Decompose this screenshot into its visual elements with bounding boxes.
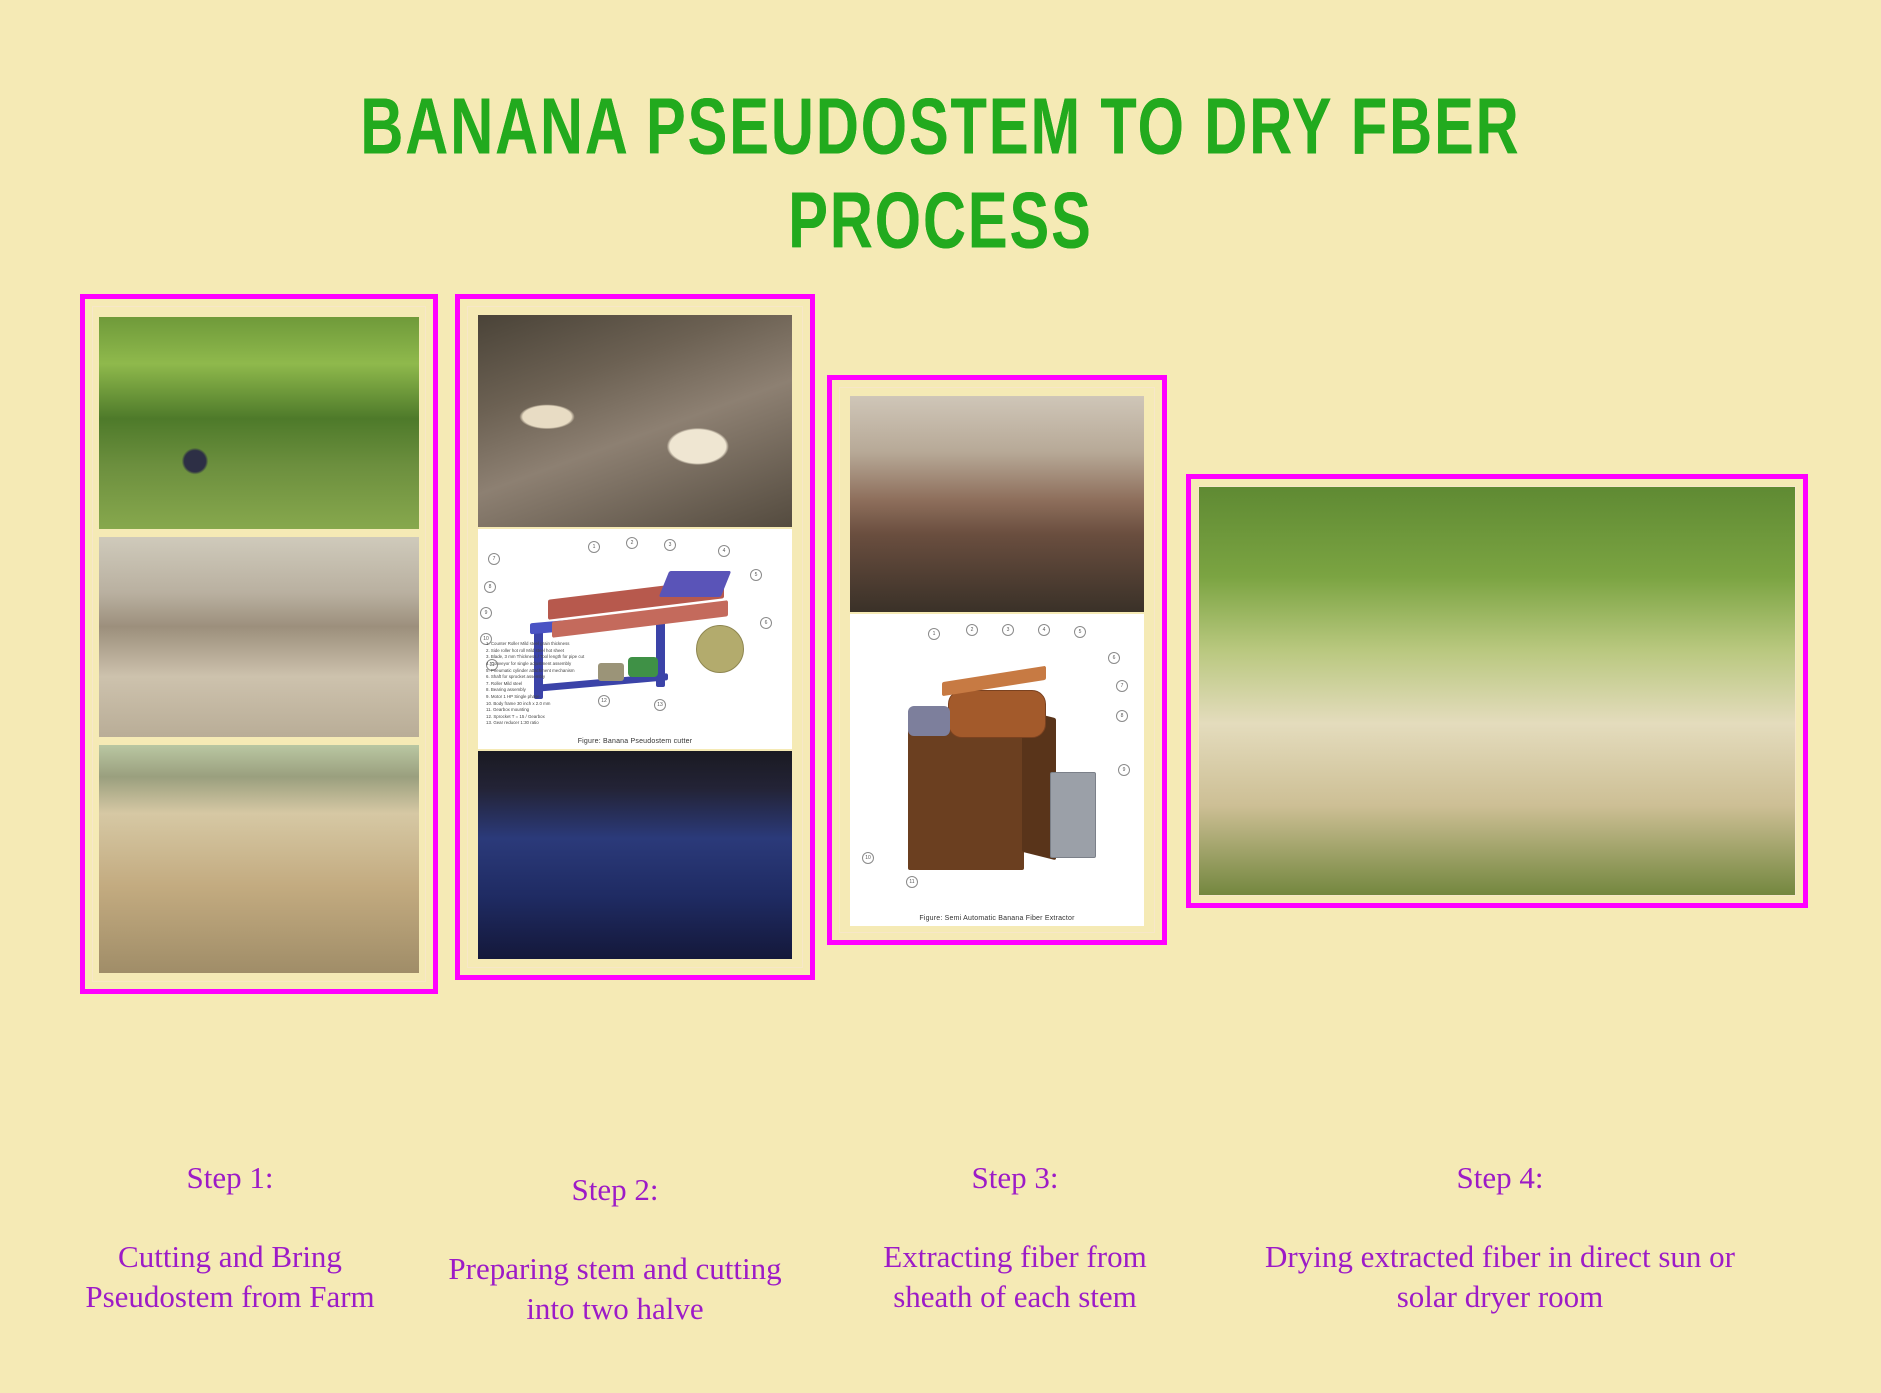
extractor-callout-8: 8: [1116, 710, 1128, 722]
caption-step-3-heading: Step 3:: [845, 1158, 1185, 1198]
extractor-diagram-artwork: 1 2 3 4 5 6 7 8 9 10 11: [850, 614, 1144, 915]
cutter-callout-4: 4: [718, 545, 730, 557]
extractor-callout-2: 2: [966, 624, 978, 636]
caption-step-4-body: Drying extracted fiber in direct sun or …: [1200, 1237, 1800, 1316]
cutter-callout-9: 9: [480, 607, 492, 619]
cutter-callout-12: 12: [598, 695, 610, 707]
panel-step-3[interactable]: 1 2 3 4 5 6 7 8 9 10 11 Figure: Semi Aut…: [827, 375, 1167, 945]
image-worker-cutting-pseudostem-in-banana-plantation: [99, 317, 419, 529]
caption-step-4: Step 4: Drying extracted fiber in direct…: [1200, 1118, 1800, 1356]
extractor-callout-7: 7: [1116, 680, 1128, 692]
panel-step-4[interactable]: [1186, 474, 1808, 908]
cutter-gearbox: [598, 663, 624, 681]
caption-step-4-heading: Step 4:: [1200, 1158, 1800, 1198]
extractor-callout-6: 6: [1108, 652, 1120, 664]
cutter-callout-5: 5: [750, 569, 762, 581]
extractor-callout-1: 1: [928, 628, 940, 640]
caption-step-2-heading: Step 2:: [415, 1170, 815, 1210]
cutter-callout-2: 2: [626, 537, 638, 549]
extractor-body-cabinet: [908, 730, 1024, 870]
cutter-callout-7: 7: [488, 553, 500, 565]
caption-step-1: Step 1: Cutting and Bring Pseudostem fro…: [30, 1118, 430, 1356]
caption-step-1-body: Cutting and Bring Pseudostem from Farm: [30, 1237, 430, 1316]
extractor-callout-10: 10: [862, 852, 874, 864]
panel-step-2-inner: 1 2 3 4 5 6 7 8 9 10 11 12 13 1. Counter…: [467, 306, 803, 968]
cutter-component-listing: 1. Counter Roller Mild steel grain thick…: [486, 641, 584, 727]
caption-step-3-body: Extracting fiber from sheath of each ste…: [845, 1237, 1185, 1316]
image-banana-pseudostem-cutter-cad-diagram: 1 2 3 4 5 6 7 8 9 10 11 12 13 1. Counter…: [478, 529, 792, 749]
panel-step-2[interactable]: 1 2 3 4 5 6 7 8 9 10 11 12 13 1. Counter…: [455, 294, 815, 980]
extractor-callout-9: 9: [1118, 764, 1130, 776]
page-title: BANANA PSEUDOSTEM TO DRY FBER PROCESS: [0, 88, 1881, 276]
extractor-callout-5: 5: [1074, 626, 1086, 638]
panel-step-4-inner: [1198, 486, 1796, 896]
panel-step-3-inner: 1 2 3 4 5 6 7 8 9 10 11 Figure: Semi Aut…: [839, 387, 1155, 933]
image-worker-splitting-pseudostem-into-halves: [478, 751, 792, 959]
image-pile-of-cut-banana-pseudostems-in-field: [99, 745, 419, 973]
cutter-callout-3: 3: [664, 539, 676, 551]
image-cut-pseudostem-sections-on-ground: [478, 315, 792, 527]
cutter-motor: [628, 657, 658, 677]
caption-step-1-heading: Step 1:: [30, 1158, 430, 1198]
cutter-blade-drum: [696, 625, 744, 673]
extractor-callout-3: 3: [1002, 624, 1014, 636]
cutter-callout-8: 8: [484, 581, 496, 593]
extractor-motor: [908, 706, 950, 736]
panel-step-1-inner: [92, 306, 426, 982]
caption-step-3: Step 3: Extracting fiber from sheath of …: [845, 1118, 1185, 1356]
caption-step-2-body: Preparing stem and cutting into two halv…: [415, 1249, 815, 1328]
extractor-control-box: [1050, 772, 1096, 858]
panel-step-1[interactable]: [80, 294, 438, 994]
title-line-1: BANANA PSEUDOSTEM TO DRY FBER: [38, 88, 1844, 167]
title-line-2: PROCESS: [38, 182, 1844, 261]
extractor-callout-11: 11: [906, 876, 918, 888]
cutter-figure-caption: Figure: Banana Pseudostem cutter: [578, 738, 693, 749]
image-hands-holding-extracted-white-banana-fiber: [1199, 487, 1795, 895]
caption-step-2: Step 2: Preparing stem and cutting into …: [415, 1130, 815, 1368]
cutter-hopper: [659, 571, 732, 597]
image-banana-fiber-extractor-machine-in-operation: [850, 396, 1144, 612]
cutter-callout-13: 13: [654, 699, 666, 711]
extractor-callout-4: 4: [1038, 624, 1050, 636]
cutter-callout-1: 1: [588, 541, 600, 553]
extractor-figure-caption: Figure: Semi Automatic Banana Fiber Extr…: [919, 915, 1074, 926]
image-harvested-pseudostems-loaded-near-tractor-trailer: [99, 537, 419, 737]
image-semi-automatic-banana-fiber-extractor-cad-diagram: 1 2 3 4 5 6 7 8 9 10 11 Figure: Semi Aut…: [850, 614, 1144, 926]
extractor-drum: [948, 690, 1046, 738]
cutter-callout-6: 6: [760, 617, 772, 629]
